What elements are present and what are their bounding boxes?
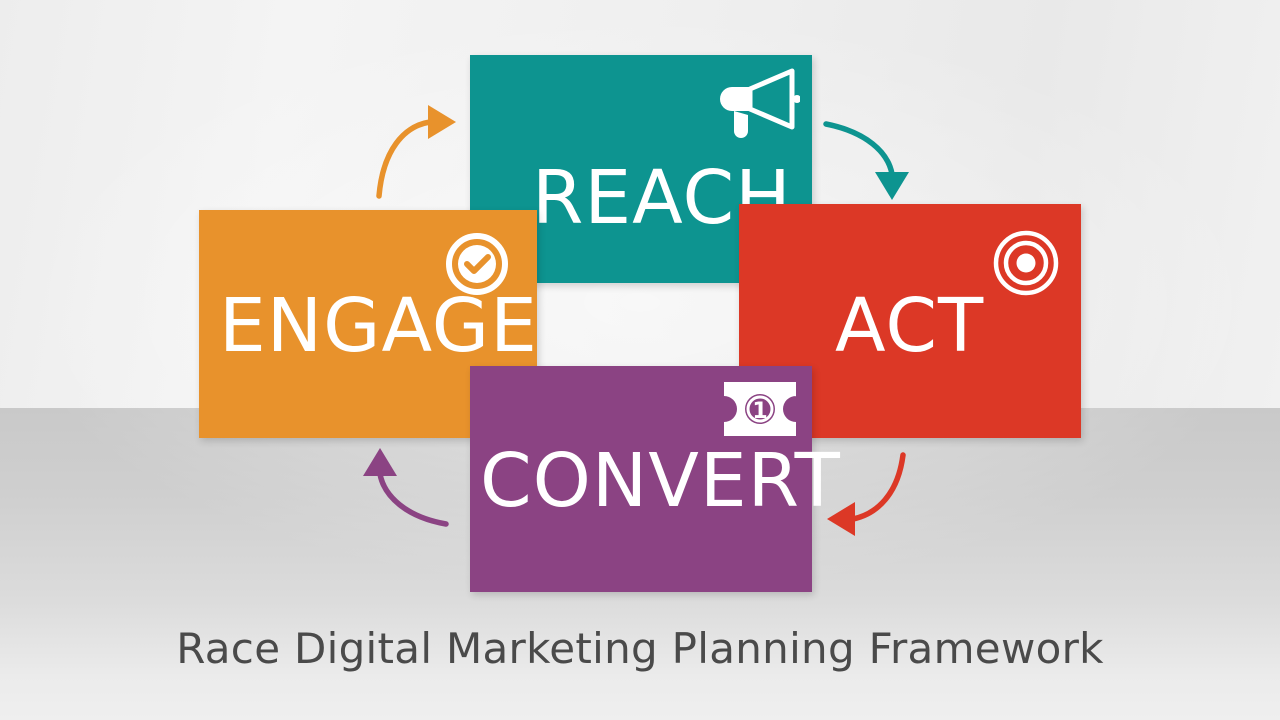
stage-label-act: ACT <box>835 289 984 363</box>
stage-label-convert: CONVERT <box>480 444 841 518</box>
stage-box-convert[interactable]: CONVERT 1 <box>470 366 812 592</box>
stage-label-engage: ENGAGE <box>219 289 538 363</box>
race-framework-slide: REACH ACT ENGAGE CONVERT <box>0 0 1280 720</box>
slide-title: Race Digital Marketing Planning Framewor… <box>0 624 1280 673</box>
